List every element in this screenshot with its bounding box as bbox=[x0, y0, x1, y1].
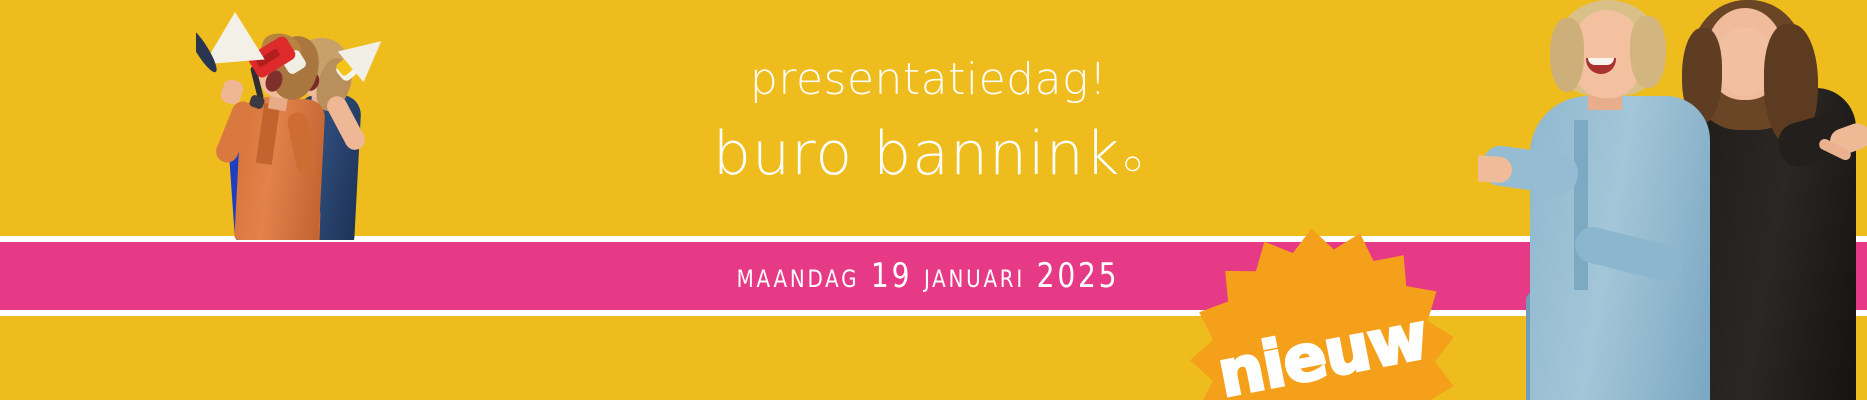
headline-brand-dot: ○ bbox=[1123, 143, 1145, 183]
headline-brand-text: buro bannink bbox=[713, 119, 1121, 189]
woman-denim-shirt-teeth bbox=[1588, 58, 1614, 65]
nieuw-starburst-badge[interactable]: nieuw bbox=[1179, 217, 1467, 400]
headline-subtitle: presentatiedag! bbox=[750, 58, 1107, 102]
woman-denim-shirt-hair-left bbox=[1550, 18, 1584, 92]
promo-banner: presentatiedag! buro bannink○ Maandag 19… bbox=[0, 0, 1867, 400]
event-date-text: Maandag 19 januari 2025 bbox=[736, 259, 1119, 293]
woman-denim-shirt-placket bbox=[1574, 120, 1588, 290]
woman-denim-shirt-hair-right bbox=[1630, 16, 1666, 88]
photo-two-women-pointing bbox=[1478, 0, 1867, 400]
headline-brand: buro bannink○ bbox=[713, 124, 1144, 184]
